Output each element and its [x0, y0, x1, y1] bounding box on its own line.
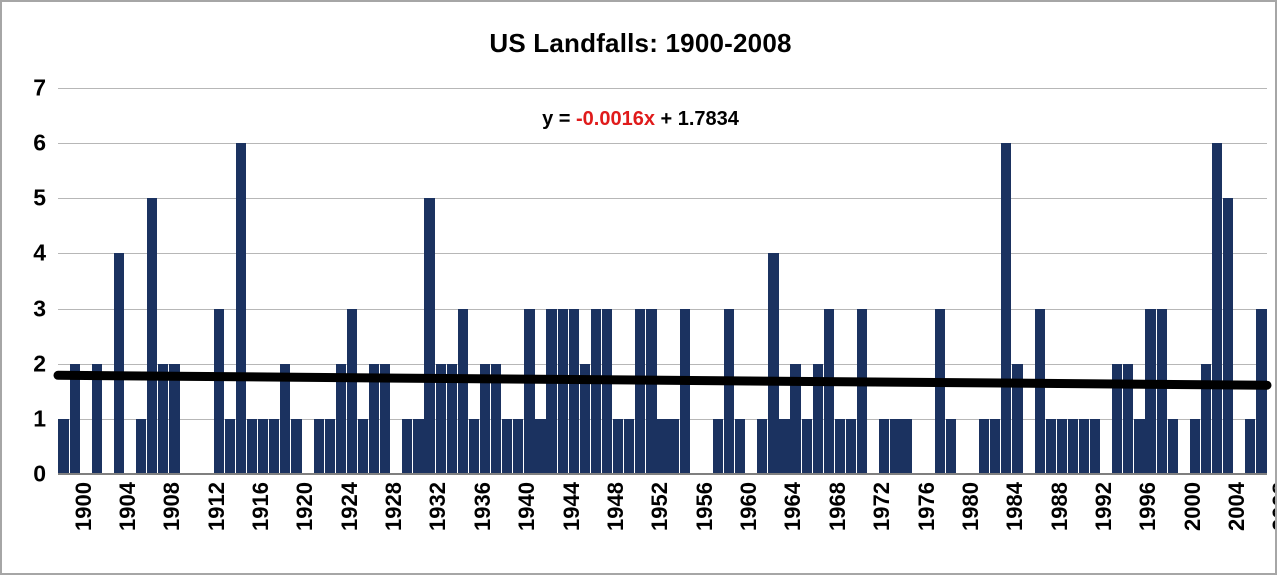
trendline-equation: y = -0.0016x + 1.7834 [2, 108, 1277, 131]
y-axis-tick-label: 4 [6, 242, 46, 265]
bar [225, 419, 235, 474]
bar [436, 364, 446, 474]
x-axis-tick-label: 1940 [516, 482, 538, 531]
x-axis-tick-label: 1916 [250, 482, 272, 531]
bar [458, 309, 468, 474]
bar [1134, 419, 1144, 474]
bar [269, 419, 279, 474]
bar [802, 419, 812, 474]
bar [779, 419, 789, 474]
bar [169, 364, 179, 474]
bar [92, 364, 102, 474]
bar-series [58, 88, 1267, 474]
bar [1001, 143, 1011, 474]
chart-title: US Landfalls: 1900-2008 [2, 28, 1277, 59]
bar [502, 419, 512, 474]
bar [336, 364, 346, 474]
x-axis-tick-label: 1924 [339, 482, 361, 531]
x-axis-tick-label: 1992 [1093, 482, 1115, 531]
bar [1212, 143, 1222, 474]
x-axis-tick-label: 1968 [827, 482, 849, 531]
y-axis-tick-label: 1 [6, 407, 46, 430]
bar [1035, 309, 1045, 474]
equation-suffix: + 1.7834 [655, 108, 739, 130]
bar [424, 198, 434, 474]
equation-slope: -0.0016x [576, 108, 655, 130]
x-axis-ticks: 1900190419081912191619201924192819321936… [58, 476, 1267, 575]
bar [558, 309, 568, 474]
bar [1168, 419, 1178, 474]
y-axis-tick-label: 6 [6, 132, 46, 155]
x-axis-tick-label: 2004 [1226, 482, 1248, 531]
bar [680, 309, 690, 474]
bar [214, 309, 224, 474]
x-axis-tick-label: 1976 [916, 482, 938, 531]
bar [402, 419, 412, 474]
chart-container: US Landfalls: 1900-2008 y = -0.0016x + 1… [0, 0, 1277, 575]
x-axis-tick-label: 1960 [738, 482, 760, 531]
x-axis-tick-label: 1964 [782, 482, 804, 531]
x-axis-tick-label: 2008 [1270, 482, 1277, 531]
x-axis-tick-label: 1984 [1004, 482, 1026, 531]
bar [824, 309, 834, 474]
x-axis-tick-label: 1996 [1137, 482, 1159, 531]
bar [946, 419, 956, 474]
bar [580, 364, 590, 474]
plot-area: 01234567 [58, 88, 1267, 474]
bar [890, 419, 900, 474]
bar [602, 309, 612, 474]
bar [380, 364, 390, 474]
bar [314, 419, 324, 474]
x-axis-tick-label: 1988 [1049, 482, 1071, 531]
bar [1245, 419, 1255, 474]
x-axis-tick-label: 1944 [561, 482, 583, 531]
bar [258, 419, 268, 474]
bar [1190, 419, 1200, 474]
bar [935, 309, 945, 474]
equation-prefix: y = [542, 108, 576, 130]
bar [990, 419, 1000, 474]
bar [1201, 364, 1211, 474]
bar [635, 309, 645, 474]
x-axis-tick-label: 1972 [871, 482, 893, 531]
x-axis-tick-label: 1908 [161, 482, 183, 531]
bar [646, 309, 656, 474]
bar [1223, 198, 1233, 474]
x-axis-tick-label: 1948 [605, 482, 627, 531]
bar [724, 309, 734, 474]
x-axis-tick-label: 1904 [117, 482, 139, 531]
x-axis-tick-label: 1952 [649, 482, 671, 531]
x-axis-tick-label: 1920 [294, 482, 316, 531]
bar [524, 309, 534, 474]
bar [369, 364, 379, 474]
bar [280, 364, 290, 474]
bar [70, 364, 80, 474]
bar [1079, 419, 1089, 474]
bar [768, 253, 778, 474]
bar [491, 364, 501, 474]
bar [1157, 309, 1167, 474]
bar [979, 419, 989, 474]
x-axis-tick-label: 1932 [427, 482, 449, 531]
bar [1057, 419, 1067, 474]
y-axis-tick-label: 3 [6, 297, 46, 320]
bar [1123, 364, 1133, 474]
bar [136, 419, 146, 474]
bar [114, 253, 124, 474]
bar [846, 419, 856, 474]
x-axis-tick-label: 1928 [383, 482, 405, 531]
x-axis-tick-label: 1912 [206, 482, 228, 531]
bar [358, 419, 368, 474]
bar [790, 364, 800, 474]
bar [347, 309, 357, 474]
bar [513, 419, 523, 474]
bar [813, 364, 823, 474]
bar [469, 419, 479, 474]
y-axis-tick-label: 0 [6, 463, 46, 486]
bar [857, 309, 867, 474]
bar [713, 419, 723, 474]
bar [147, 198, 157, 474]
bar [735, 419, 745, 474]
y-axis-tick-label: 5 [6, 187, 46, 210]
bar [247, 419, 257, 474]
bar [879, 419, 889, 474]
bar [58, 419, 68, 474]
x-axis-tick-label: 2000 [1182, 482, 1204, 531]
bar [158, 364, 168, 474]
bar [1112, 364, 1122, 474]
bar [291, 419, 301, 474]
bar [1068, 419, 1078, 474]
bar [480, 364, 490, 474]
bar [757, 419, 767, 474]
bar [413, 419, 423, 474]
bar [591, 309, 601, 474]
x-axis-tick-label: 1900 [73, 482, 95, 531]
bar [569, 309, 579, 474]
bar [657, 419, 667, 474]
bar [546, 309, 556, 474]
bar [1046, 419, 1056, 474]
bar [447, 364, 457, 474]
x-axis-tick-label: 1936 [472, 482, 494, 531]
bar [1256, 309, 1266, 474]
x-axis-tick-label: 1956 [694, 482, 716, 531]
y-axis-tick-label: 7 [6, 77, 46, 100]
y-axis-tick-label: 2 [6, 352, 46, 375]
bar [613, 419, 623, 474]
bar [236, 143, 246, 474]
bar [901, 419, 911, 474]
x-axis-line [58, 473, 1267, 475]
bar [668, 419, 678, 474]
bar [325, 419, 335, 474]
bar [535, 419, 545, 474]
bar [1090, 419, 1100, 474]
bar [624, 419, 634, 474]
x-axis-tick-label: 1980 [960, 482, 982, 531]
bar [835, 419, 845, 474]
bar [1145, 309, 1155, 474]
bar [1012, 364, 1022, 474]
